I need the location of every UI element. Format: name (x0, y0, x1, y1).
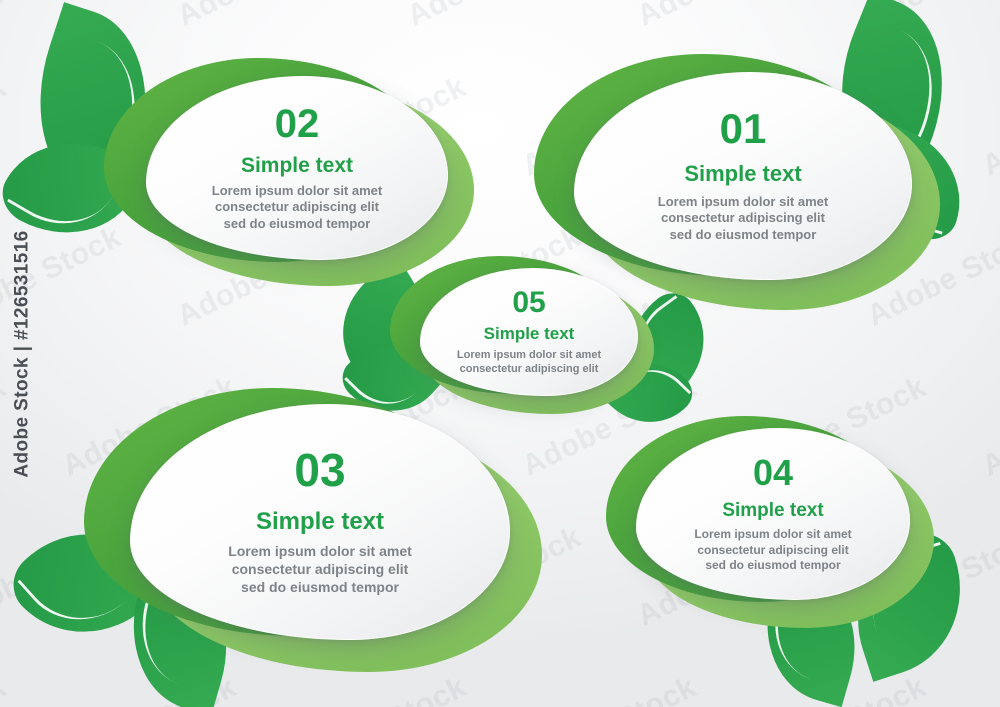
card-05-number: 05 (512, 288, 545, 318)
card-04[interactable]: 04 Simple text Lorem ipsum dolor sit ame… (600, 412, 940, 634)
watermark-text: Adobe Stock (0, 670, 12, 707)
stock-credit-text: Adobe Stock | #126531516 (12, 230, 34, 477)
card-03[interactable]: 03 Simple text Lorem ipsum dolor sit ame… (78, 382, 530, 670)
card-03-body-line-1: Lorem ipsum dolor sit amet (228, 543, 412, 561)
card-03-title: Simple text (256, 509, 384, 535)
card-03-body-line-2: consectetur adipiscing elit (232, 561, 409, 579)
card-05-title: Simple text (484, 325, 575, 344)
card-01-number: 01 (720, 108, 767, 150)
card-02-body-line-1: Lorem ipsum dolor sit amet (212, 183, 382, 200)
card-01-title: Simple text (684, 162, 801, 186)
card-04-body-line-3: sed do eiusmod tempor (705, 558, 840, 573)
watermark-text: Adobe Stock (0, 370, 12, 483)
card-02-body-line-2: consectetur adipiscing elit (215, 199, 379, 216)
card-03-number: 03 (294, 447, 345, 493)
watermark-text: Adobe Stock (172, 0, 357, 34)
watermark-text: Adobe Stock (977, 670, 1000, 707)
card-01-body-line-2: consectetur adipiscing elit (661, 210, 825, 227)
watermark-text: Adobe Stock (402, 0, 587, 34)
card-02-title: Simple text (241, 154, 353, 177)
watermark-text: Adobe Stock (977, 370, 1000, 483)
card-05-body-line-2: consectetur adipiscing elit (460, 362, 599, 376)
card-04-body-line-1: Lorem ipsum dolor sit amet (694, 527, 851, 542)
card-04-title: Simple text (722, 501, 823, 522)
watermark-text: Adobe Stock (287, 670, 472, 707)
watermark-text: Adobe Stock (977, 70, 1000, 183)
card-03-body-line-3: sed do eiusmod tempor (241, 579, 399, 597)
card-01-body-line-3: sed do eiusmod tempor (670, 227, 817, 244)
card-01-body-line-1: Lorem ipsum dolor sit amet (658, 194, 828, 211)
card-02[interactable]: 02 Simple text Lorem ipsum dolor sit ame… (96, 52, 468, 282)
card-04-body-line-2: consectetur adipiscing elit (697, 543, 848, 558)
infographic-canvas: Adobe StockAdobe StockAdobe StockAdobe S… (0, 0, 1000, 707)
card-02-body-line-3: sed do eiusmod tempor (224, 216, 371, 233)
card-04-number: 04 (753, 455, 793, 491)
watermark-text: Adobe Stock (632, 0, 817, 34)
card-05-body-line-1: Lorem ipsum dolor sit amet (457, 348, 601, 362)
card-02-number: 02 (275, 104, 320, 144)
watermark-text: Adobe Stock (517, 670, 702, 707)
